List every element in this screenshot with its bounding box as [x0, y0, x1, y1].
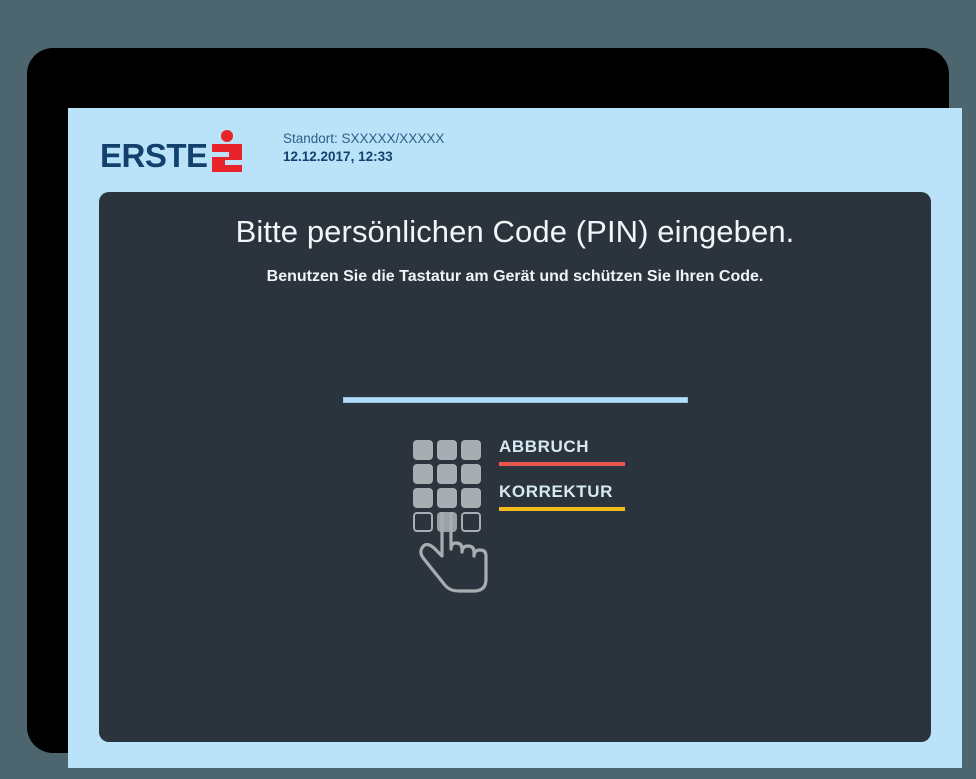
pin-entry-panel: Bitte persönlichen Code (PIN) eingeben. …: [99, 192, 931, 742]
sparkasse-dot-icon: [221, 130, 233, 142]
atm-device-bezel: ERSTE Standort: SXXXXX/XXXXX 12.12.2017,…: [27, 48, 949, 753]
keypad-row: [413, 464, 481, 484]
keypad-key: [437, 464, 457, 484]
keypad-key: [437, 488, 457, 508]
pin-input[interactable]: [343, 397, 688, 403]
datetime-label: 12.12.2017, 12:33: [283, 148, 444, 166]
keypad-key: [461, 488, 481, 508]
action-buttons: ABBRUCH KORREKTUR: [499, 437, 699, 527]
keypad-key: [413, 488, 433, 508]
abbruch-button[interactable]: ABBRUCH: [499, 437, 699, 466]
keypad-cluster: ABBRUCH KORREKTUR: [413, 440, 713, 640]
keypad-row: [413, 440, 481, 460]
korrektur-accent-bar: [499, 507, 625, 511]
korrektur-button[interactable]: KORREKTUR: [499, 482, 699, 511]
screen-header: ERSTE Standort: SXXXXX/XXXXX 12.12.2017,…: [68, 108, 962, 192]
location-label: Standort: SXXXXX/XXXXX: [283, 130, 444, 148]
page-title: Bitte persönlichen Code (PIN) eingeben.: [99, 214, 931, 250]
keypad-key: [413, 464, 433, 484]
keypad-key: [437, 440, 457, 460]
abbruch-button-label: ABBRUCH: [499, 437, 699, 462]
abbruch-accent-bar: [499, 462, 625, 466]
korrektur-button-label: KORREKTUR: [499, 482, 699, 507]
keypad-key: [413, 440, 433, 460]
atm-screen: ERSTE Standort: SXXXXX/XXXXX 12.12.2017,…: [68, 108, 962, 768]
keypad-row: [413, 488, 481, 508]
pointing-hand-icon: [418, 512, 494, 594]
sparkasse-s-glyph-icon: [212, 144, 242, 172]
location-info: Standort: SXXXXX/XXXXX 12.12.2017, 12:33: [283, 130, 444, 166]
logo-wordmark: ERSTE: [100, 139, 208, 172]
keypad-key: [461, 464, 481, 484]
sparkasse-s-icon: [212, 130, 242, 172]
keypad-key: [461, 440, 481, 460]
page-subtitle: Benutzen Sie die Tastatur am Gerät und s…: [99, 268, 931, 286]
erste-bank-logo: ERSTE: [100, 128, 242, 172]
